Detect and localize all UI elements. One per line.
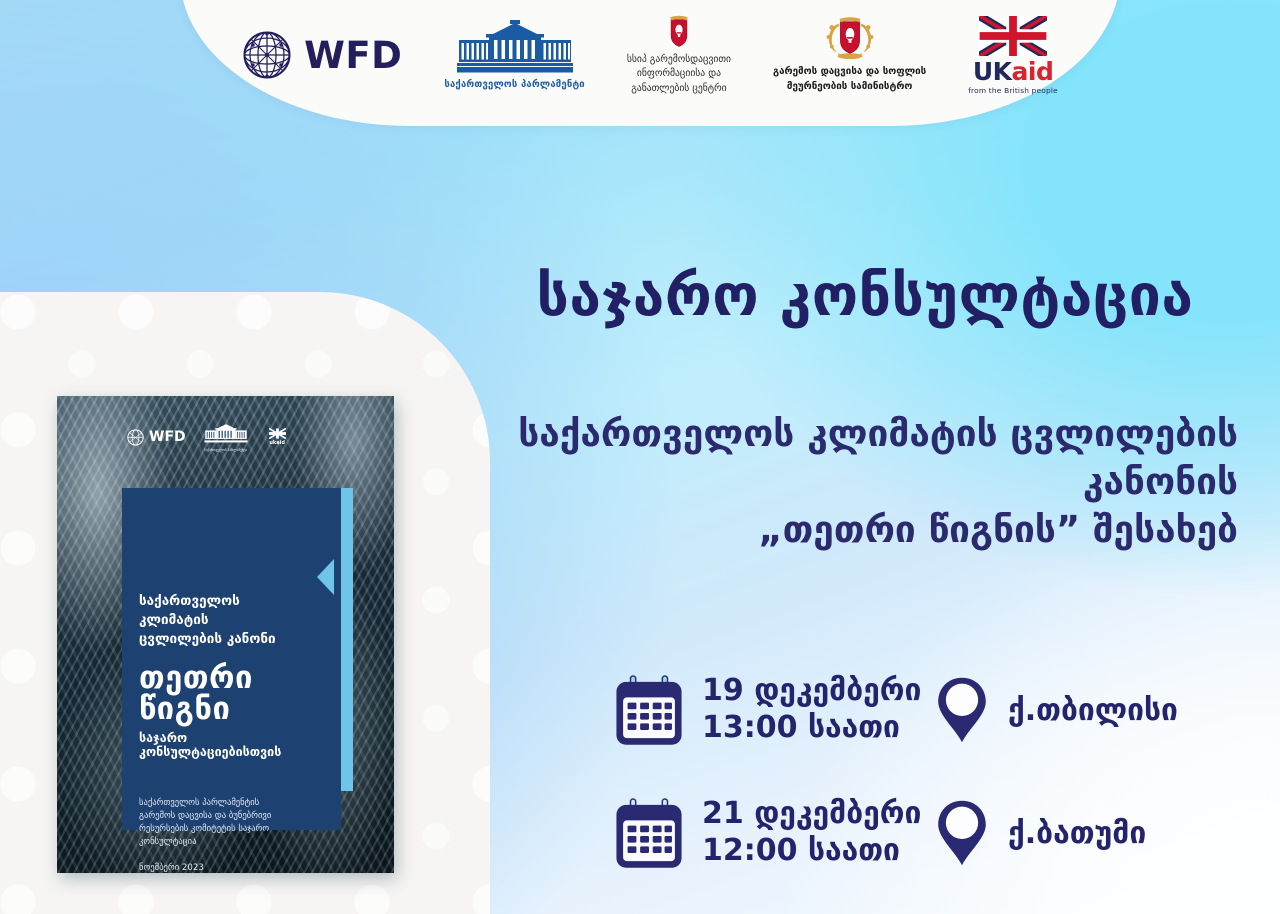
ukaid-aid-text: aid xyxy=(1012,57,1054,86)
info-centre-caption: სსიპ გარემოსდაცვითი ინფორმაციისა და განა… xyxy=(627,53,731,96)
parliament-building-icon xyxy=(203,423,249,443)
cover-ukaid-logo: ukaid xyxy=(266,428,289,446)
parliament-logo-caption: საქართველოს პარლამენტი xyxy=(444,79,584,90)
cover-text-block: საქართველოს კლიმატის ცვლილების კანონი თე… xyxy=(139,592,322,873)
white-paper-book-cover: WFD xyxy=(57,396,394,873)
parliament-of-georgia-logo: საქართველოს პარლამენტი xyxy=(444,20,584,90)
cover-subtitle: საჯარო კონსულტაციებისთვის xyxy=(139,731,322,759)
page-subtitle: საქართველოს კლიმატის ცვლილების კანონის „… xyxy=(430,410,1260,554)
ukaid-wordmark: UKaid xyxy=(973,59,1054,84)
ukaid-logo: UKaid from the British people xyxy=(968,16,1058,95)
georgia-crest-icon xyxy=(667,14,691,48)
wfd-wordmark: WFD xyxy=(304,37,402,74)
event-row: 21 დეკემბერი 12:00 საათი ქ.ბათუმი xyxy=(612,783,1212,883)
calendar-icon xyxy=(612,796,686,870)
calendar-icon xyxy=(612,673,686,747)
globe-network-icon xyxy=(242,30,292,80)
cover-wfd-logo: WFD xyxy=(127,429,186,446)
cover-parliament-logo: საქართველოს პარლამენტი xyxy=(203,423,249,452)
ukaid-uk-text: UK xyxy=(973,57,1012,86)
ministry-caption: გარემოს დაცვისა და სოფლის მეურნეობის სამ… xyxy=(773,65,926,94)
event-datetime: 21 დეკემბერი 12:00 საათი xyxy=(702,796,934,869)
logo-row: WFD xyxy=(180,0,1120,110)
ministry-logo: გარემოს დაცვისა და სოფლის მეურნეობის სამ… xyxy=(773,16,926,94)
event-row: 19 დეკემბერი 13:00 საათი ქ.თბილისი xyxy=(612,660,1212,760)
event-location: ქ.ბათუმი xyxy=(1008,816,1146,851)
union-jack-flag-icon xyxy=(979,16,1047,56)
cover-parliament-caption: საქართველოს პარლამენტი xyxy=(203,448,249,452)
wfd-logo: WFD xyxy=(242,30,402,80)
cover-date: ნოემბერი 2023 xyxy=(139,863,322,873)
page-title: საჯარო კონსულტაცია xyxy=(470,266,1260,328)
events-list: 19 დეკემბერი 13:00 საათი ქ.თბილისი xyxy=(612,660,1212,883)
map-pin-icon xyxy=(936,676,988,744)
cover-logo-row: WFD xyxy=(127,420,366,454)
info-centre-logo: სსიპ გარემოსდაცვითი ინფორმაციისა და განა… xyxy=(627,14,731,96)
union-jack-flag-icon xyxy=(269,428,286,439)
cover-wfd-wordmark: WFD xyxy=(149,430,186,444)
parliament-building-icon xyxy=(455,20,575,74)
ukaid-tagline: from the British people xyxy=(968,86,1058,95)
poster-canvas: WFD xyxy=(0,0,1280,914)
cover-title: თეთრი წიგნი xyxy=(139,663,322,724)
cover-body-text: საქართველოს პარლამენტის გარემოს დაცვისა … xyxy=(139,797,322,849)
cover-ukaid-wordmark: ukaid xyxy=(266,440,289,446)
globe-network-icon xyxy=(127,429,144,446)
georgia-coat-of-arms-icon xyxy=(821,16,879,60)
logo-bar: WFD xyxy=(180,0,1120,126)
event-location: ქ.თბილისი xyxy=(1008,693,1178,728)
map-pin-icon xyxy=(936,799,988,867)
event-datetime: 19 დეკემბერი 13:00 საათი xyxy=(702,673,934,746)
cover-arrow-notch xyxy=(317,559,334,595)
cover-kicker: საქართველოს კლიმატის ცვლილების კანონი xyxy=(139,592,322,649)
